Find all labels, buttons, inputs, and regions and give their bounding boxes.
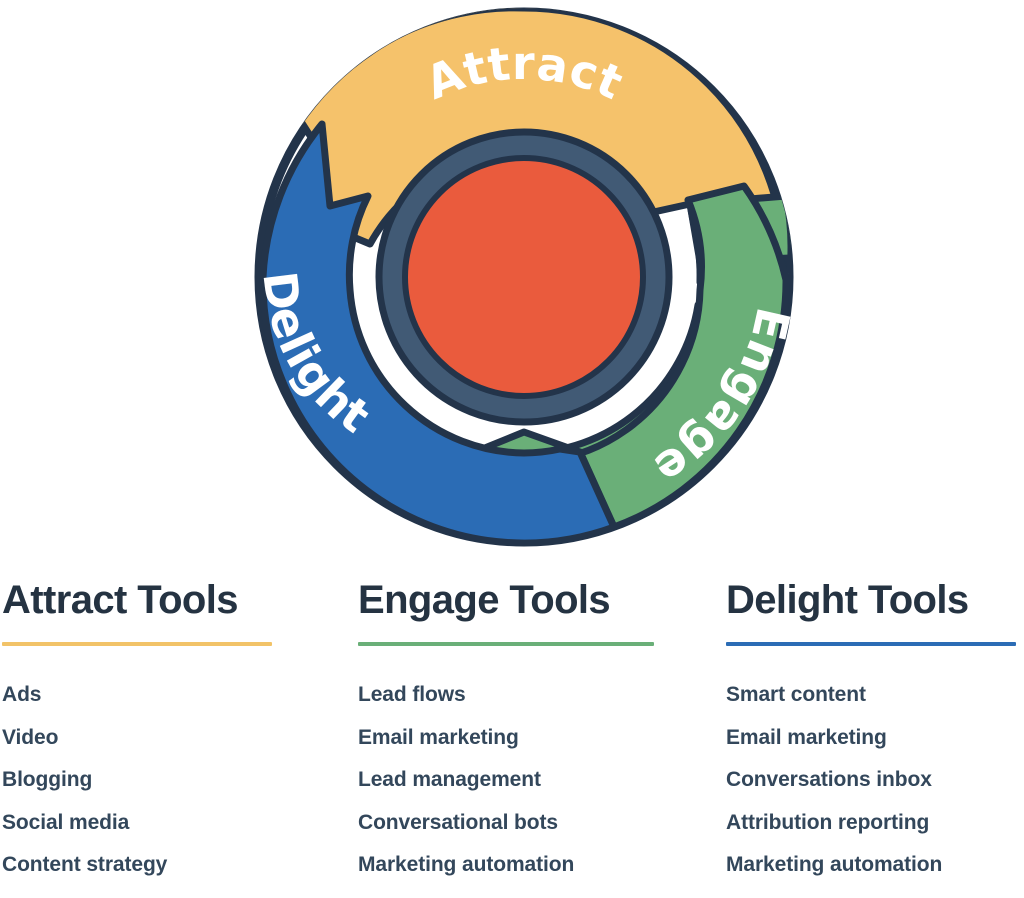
list-item: Blogging [2, 759, 272, 802]
list-item: Smart content [726, 674, 1016, 717]
list-item: Marketing automation [358, 844, 654, 887]
hub-core [405, 158, 643, 396]
tools-underline-engage [358, 642, 654, 646]
tools-list-delight: Smart content Email marketing Conversati… [726, 674, 1016, 887]
list-item: Social media [2, 802, 272, 845]
tools-list-attract: Ads Video Blogging Social media Content … [2, 674, 272, 887]
list-item: Conversational bots [358, 802, 654, 845]
list-item: Lead flows [358, 674, 654, 717]
flywheel-svg: Attract Engage Delight [0, 0, 1024, 560]
tools-underline-delight [726, 642, 1016, 646]
tools-list-engage: Lead flows Email marketing Lead manageme… [358, 674, 654, 887]
list-item: Marketing automation [726, 844, 1016, 887]
list-item: Content strategy [2, 844, 272, 887]
tools-heading-engage: Engage Tools [358, 576, 654, 624]
tools-column-engage: Engage Tools Lead flows Email marketing … [358, 576, 726, 887]
list-item: Attribution reporting [726, 802, 1016, 845]
list-item: Lead management [358, 759, 654, 802]
list-item: Conversations inbox [726, 759, 1016, 802]
tools-heading-attract: Attract Tools [2, 576, 272, 624]
tools-column-delight: Delight Tools Smart content Email market… [726, 576, 1024, 887]
tools-columns: Attract Tools Ads Video Blogging Social … [0, 576, 1024, 898]
list-item: Video [2, 717, 272, 760]
list-item: Email marketing [726, 717, 1016, 760]
tools-heading-delight: Delight Tools [726, 576, 1016, 624]
flywheel-diagram: Attract Engage Delight [0, 0, 1024, 560]
list-item: Email marketing [358, 717, 654, 760]
list-item: Ads [2, 674, 272, 717]
tools-column-attract: Attract Tools Ads Video Blogging Social … [0, 576, 358, 887]
tools-underline-attract [2, 642, 272, 646]
